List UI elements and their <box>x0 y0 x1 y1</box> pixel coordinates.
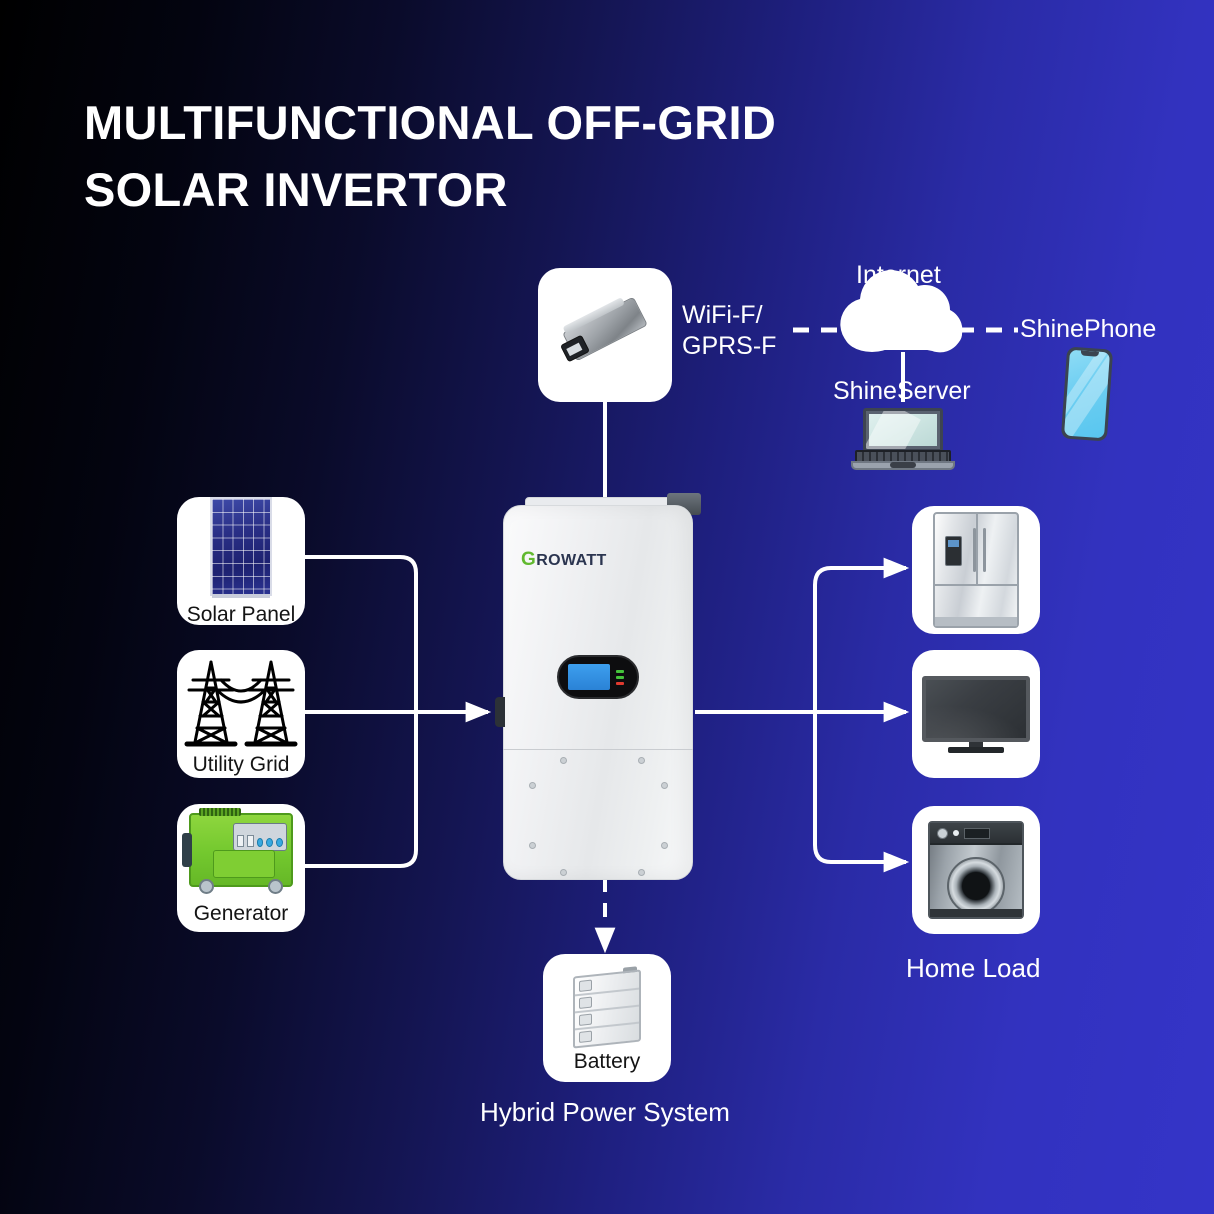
wire-solar-to-bus <box>305 557 416 697</box>
diagram-canvas: MULTIFUNCTIONAL OFF-GRID SOLAR INVERTOR <box>0 0 1214 1214</box>
card-utility-grid[interactable]: Utility Grid <box>177 650 305 778</box>
generator-icon <box>189 813 293 887</box>
wifi-dongle-icon <box>559 299 651 371</box>
solar-inverter-unit[interactable]: GROWATT <box>503 505 693 880</box>
screw <box>661 842 668 849</box>
led-green-2 <box>616 676 624 679</box>
solar-panel-label: Solar Panel <box>187 604 296 625</box>
home-load-label: Home Load <box>906 952 1040 985</box>
solar-panel-icon <box>210 497 272 596</box>
status-led-group <box>616 670 624 685</box>
inverter-panel-divider <box>503 749 693 750</box>
television-icon <box>922 676 1030 752</box>
shineserver-label: ShineServer <box>833 376 971 407</box>
lcd-screen <box>568 664 610 690</box>
generator-label: Generator <box>194 903 289 924</box>
smartphone-icon <box>1061 347 1113 442</box>
led-green-1 <box>616 670 624 673</box>
wire-bus-to-washer <box>815 845 906 862</box>
growatt-logo: GROWATT <box>521 549 607 571</box>
hybrid-power-system-label: Hybrid Power System <box>480 1096 730 1129</box>
screw <box>529 782 536 789</box>
laptop-icon <box>851 408 955 470</box>
card-battery[interactable]: Battery <box>543 954 671 1082</box>
card-washing-machine[interactable] <box>912 806 1040 934</box>
growatt-logo-text: ROWATT <box>536 552 607 569</box>
screw <box>638 869 645 876</box>
card-refrigerator[interactable] <box>912 506 1040 634</box>
card-solar-panel[interactable]: Solar Panel <box>177 497 305 625</box>
wire-bus-to-fridge <box>815 568 906 585</box>
screw <box>638 757 645 764</box>
battery-stack-icon <box>563 965 651 1053</box>
inverter-lcd-panel[interactable] <box>557 655 639 699</box>
screw <box>560 869 567 876</box>
washing-machine-icon <box>928 821 1024 919</box>
shinephone-label: ShinePhone <box>1020 314 1156 345</box>
wifi-dongle-label: WiFi-F/ GPRS-F <box>682 300 776 363</box>
card-television[interactable] <box>912 650 1040 778</box>
growatt-logo-g: G <box>521 549 536 570</box>
led-red <box>616 682 624 685</box>
battery-label: Battery <box>574 1051 641 1072</box>
card-wifi-dongle[interactable] <box>538 268 672 402</box>
inverter-side-port <box>495 697 505 727</box>
internet-label: Internet <box>856 260 941 291</box>
screw <box>560 757 567 764</box>
wire-generator-to-bus <box>305 700 416 866</box>
transmission-tower-icon <box>181 654 301 752</box>
screw <box>661 782 668 789</box>
refrigerator-icon <box>933 512 1019 628</box>
utility-grid-label: Utility Grid <box>193 754 290 775</box>
screw <box>529 842 536 849</box>
card-generator[interactable]: Generator <box>177 804 305 932</box>
